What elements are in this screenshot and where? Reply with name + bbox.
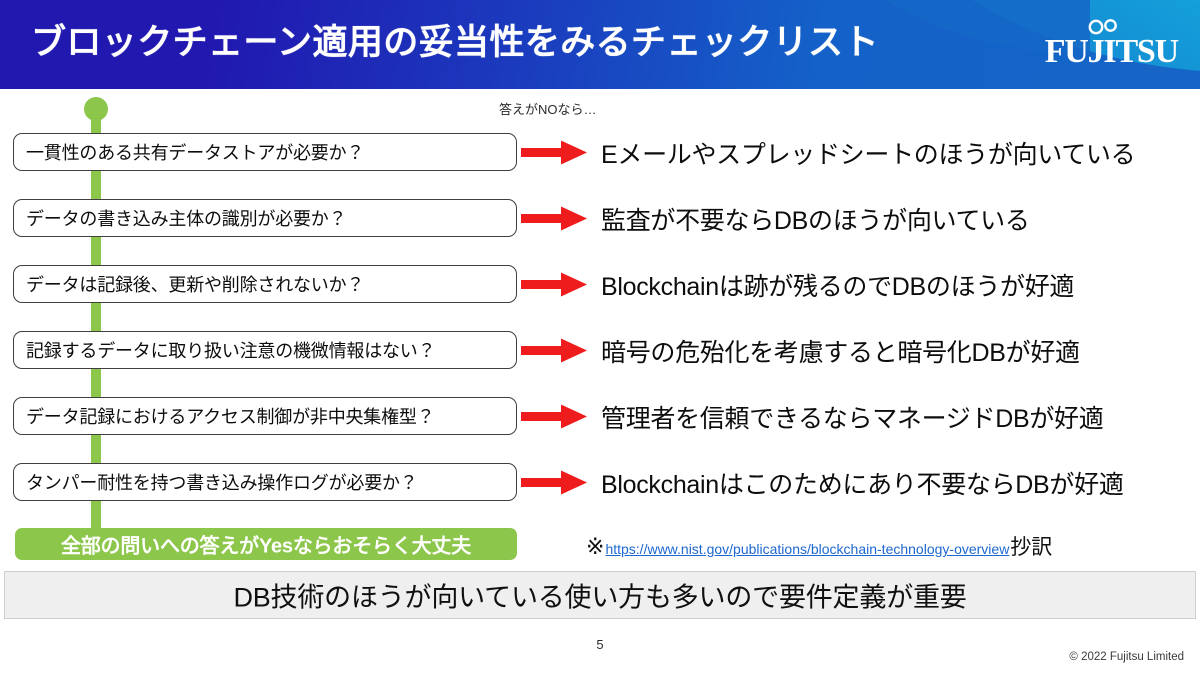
red-right-arrow-icon bbox=[521, 272, 587, 297]
question-label: タンパー耐性を持つ書き込み操作ログが必要か？ bbox=[26, 469, 418, 495]
checklist-row: 記録するデータに取り扱い注意の機微情報はない？ 暗号の危殆化を考慮すると暗号化D… bbox=[0, 331, 1200, 371]
answer-text: 監査が不要ならDBのほうが向いている bbox=[601, 201, 1030, 237]
answer-text: Eメールやスプレッドシートのほうが向いている bbox=[601, 135, 1135, 171]
answer-text: Blockchainは跡が残るのでDBのほうが好適 bbox=[601, 267, 1074, 303]
question-box[interactable]: データの書き込み主体の識別が必要か？ bbox=[13, 199, 517, 237]
fujitsu-logo-text: FUJITSU bbox=[1014, 34, 1178, 70]
red-right-arrow-icon bbox=[521, 140, 587, 165]
question-label: 一貫性のある共有データストアが必要か？ bbox=[26, 139, 364, 165]
page-title: ブロックチェーン適用の妥当性をみるチェックリスト bbox=[31, 18, 879, 68]
checklist-row: データの書き込み主体の識別が必要か？ 監査が不要ならDBのほうが向いている bbox=[0, 199, 1200, 239]
source-footnote: ※ https://www.nist.gov/publications/bloc… bbox=[586, 531, 1052, 561]
question-box[interactable]: 記録するデータに取り扱い注意の機微情報はない？ bbox=[13, 331, 517, 369]
question-label: 記録するデータに取り扱い注意の機微情報はない？ bbox=[26, 337, 435, 363]
question-box[interactable]: タンパー耐性を持つ書き込み操作ログが必要か？ bbox=[13, 463, 517, 501]
fujitsu-logo: FUJITSU bbox=[1014, 22, 1178, 70]
question-label: データ記録におけるアクセス制御が非中央集権型？ bbox=[26, 403, 435, 429]
summary-label: DB技術のほうが向いている使い方も多いので要件定義が重要 bbox=[233, 576, 966, 615]
question-label: データは記録後、更新や削除されないか？ bbox=[26, 271, 364, 297]
slide: ブロックチェーン適用の妥当性をみるチェックリスト FUJITSU 答えがNOなら… bbox=[0, 0, 1200, 674]
no-answer-caption: 答えがNOなら… bbox=[499, 99, 597, 118]
summary-bar: DB技術のほうが向いている使い方も多いので要件定義が重要 bbox=[4, 571, 1196, 619]
checklist-row: 一貫性のある共有データストアが必要か？ Eメールやスプレッドシートのほうが向いて… bbox=[0, 133, 1200, 173]
red-right-arrow-icon bbox=[521, 338, 587, 363]
conclusion-banner: 全部の問いへの答えがYesならおそらく大丈夫 bbox=[15, 528, 517, 560]
red-right-arrow-icon bbox=[521, 470, 587, 495]
question-box[interactable]: データ記録におけるアクセス制御が非中央集権型？ bbox=[13, 397, 517, 435]
source-url-link[interactable]: https://www.nist.gov/publications/blockc… bbox=[604, 541, 1010, 557]
question-box[interactable]: データは記録後、更新や削除されないか？ bbox=[13, 265, 517, 303]
question-box[interactable]: 一貫性のある共有データストアが必要か？ bbox=[13, 133, 517, 171]
answer-text: Blockchainはこのためにあり不要ならDBが好適 bbox=[601, 465, 1124, 501]
checklist-row: データは記録後、更新や削除されないか？ Blockchainは跡が残るのでDBの… bbox=[0, 265, 1200, 305]
conclusion-banner-label: 全部の問いへの答えがYesならおそらく大丈夫 bbox=[61, 530, 471, 559]
copyright-notice: © 2022 Fujitsu Limited bbox=[1069, 651, 1184, 663]
answer-text: 管理者を信頼できるならマネージドDBが好適 bbox=[601, 399, 1103, 435]
checklist-row: データ記録におけるアクセス制御が非中央集権型？ 管理者を信頼できるならマネージド… bbox=[0, 397, 1200, 437]
slide-header: ブロックチェーン適用の妥当性をみるチェックリスト FUJITSU bbox=[0, 0, 1200, 89]
question-label: データの書き込み主体の識別が必要か？ bbox=[26, 205, 346, 231]
red-right-arrow-icon bbox=[521, 206, 587, 231]
reference-mark-icon: ※ bbox=[586, 534, 604, 560]
answer-text: 暗号の危殆化を考慮すると暗号化DBが好適 bbox=[601, 333, 1080, 369]
red-right-arrow-icon bbox=[521, 404, 587, 429]
footnote-tail-label: 抄訳 bbox=[1010, 531, 1052, 561]
page-number: 5 bbox=[0, 637, 1200, 652]
checklist-row: タンパー耐性を持つ書き込み操作ログが必要か？ Blockchainはこのためにあ… bbox=[0, 463, 1200, 503]
